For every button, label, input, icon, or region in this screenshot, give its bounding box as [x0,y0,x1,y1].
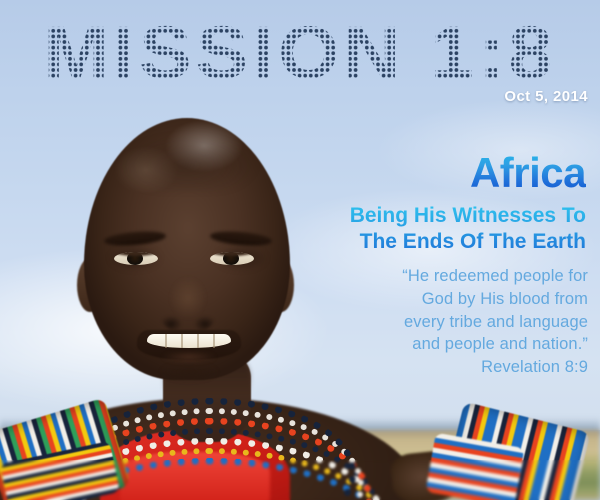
subtitle: Being His Witnesses To The Ends Of The E… [350,203,586,254]
subtitle-line-1: Being His Witnesses To [350,204,586,227]
scripture-quote: “He redeemed people for God by His blood… [402,265,588,379]
issue-date: Oct 5, 2014 [504,88,588,105]
verse-line-4: and people and nation.” [412,335,588,353]
magazine-cover: MISSION 1:8 Oct 5, 2014 Africa Being His… [0,0,600,500]
verse-reference: Revelation 8:9 [402,356,588,379]
verse-line-3: every tribe and language [404,313,588,331]
verse-line-2: God by His blood from [422,290,588,308]
verse-line-1: “He redeemed people for [402,267,588,285]
page-title: Africa [470,152,586,194]
subtitle-line-2: The Ends Of The Earth [360,230,586,253]
